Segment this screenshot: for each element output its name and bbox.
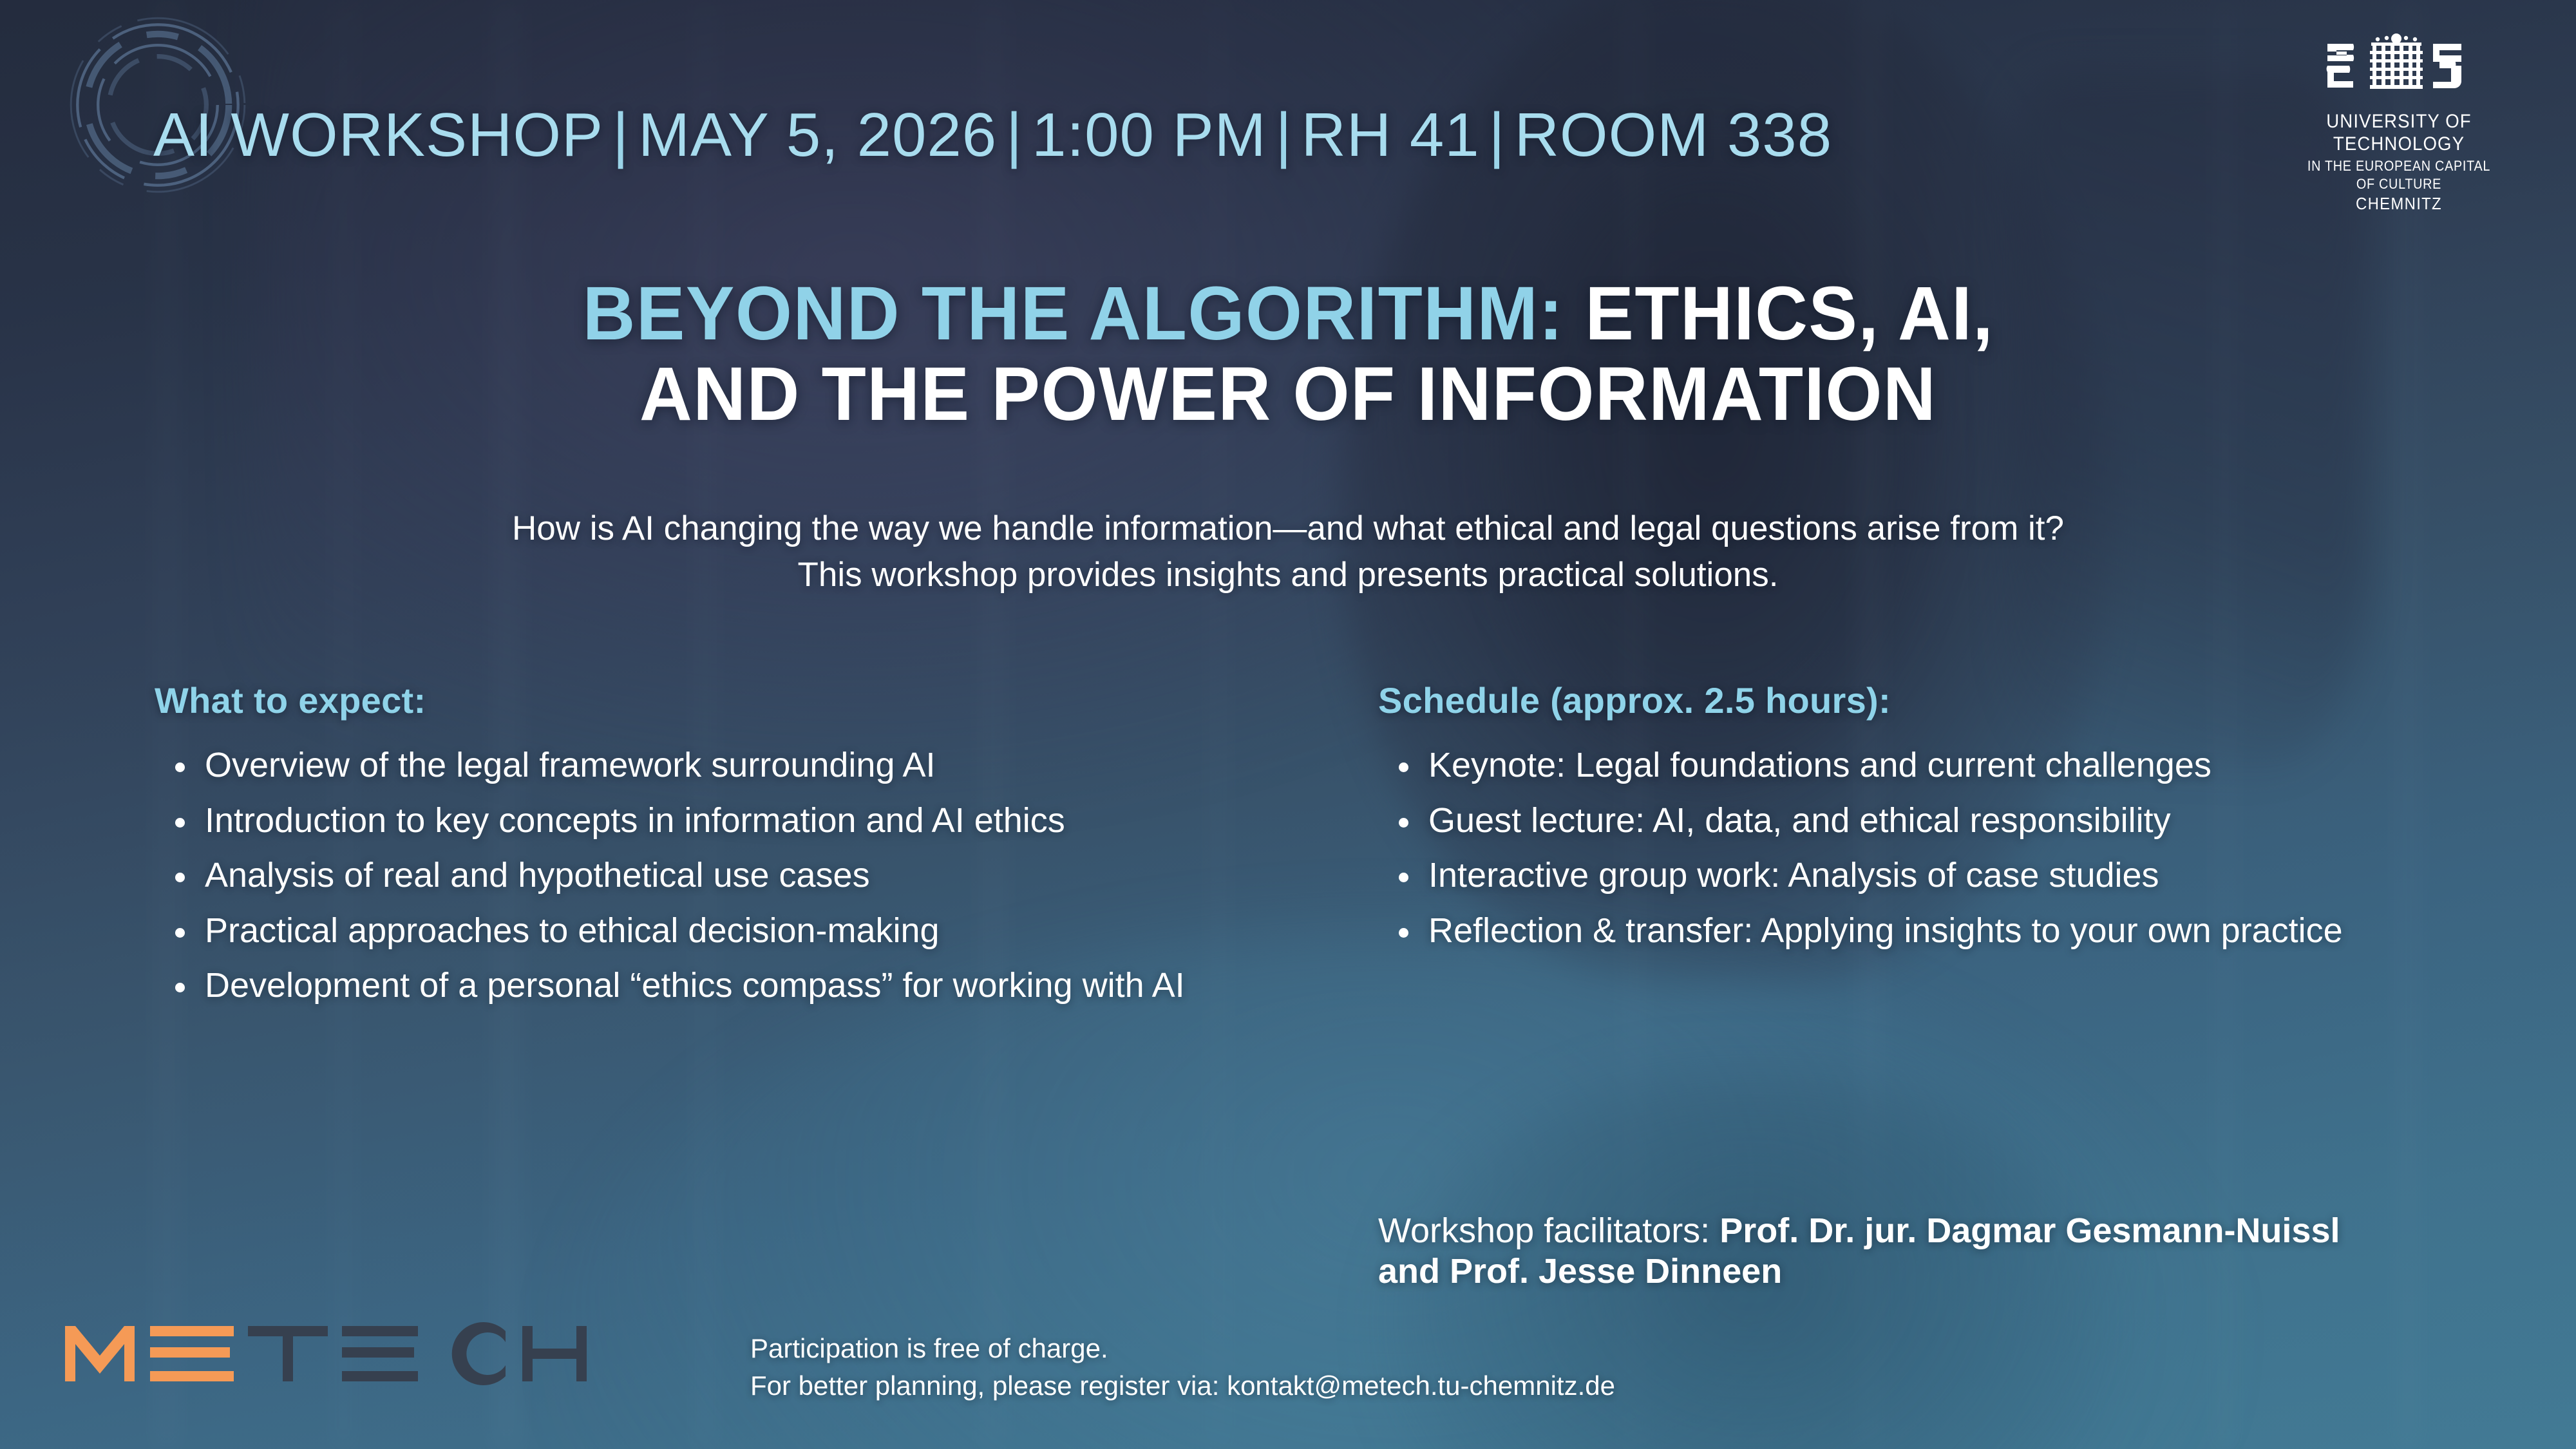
footer-line-free: Participation is free of charge. [750, 1330, 1615, 1367]
university-subtitle-line: IN THE EUROPEAN CAPITAL OF CULTURE [2304, 157, 2495, 193]
subtitle-line-1: How is AI changing the way we handle inf… [0, 506, 2576, 552]
university-city-line: CHEMNITZ [2301, 194, 2497, 214]
page-title: BEYOND THE ALGORITHM: ETHICS, AI, AND TH… [0, 274, 2576, 435]
metech-logo-tech-group [248, 1322, 587, 1385]
list-item: Interactive group work: Analysis of case… [1428, 856, 2537, 896]
facilitators-block: Workshop facilitators: Prof. Dr. jur. Da… [1378, 1211, 2409, 1291]
event-header-line: AI WORKSHOP|MAY 5, 2026|1:00 PM|RH 41|RO… [153, 100, 1832, 171]
list-item: Guest lecture: AI, data, and ethical res… [1428, 801, 2537, 841]
footer-registration-note: Participation is free of charge. For bet… [750, 1330, 1615, 1405]
header-part-date: MAY 5, 2026 [638, 100, 997, 169]
header-part-time: 1:00 PM [1032, 100, 1267, 169]
header-separator-2: | [997, 100, 1032, 169]
list-item: Keynote: Legal foundations and current c… [1428, 746, 2537, 786]
list-item: Practical approaches to ethical decision… [205, 911, 1236, 951]
title-plain-segment: ETHICS, AI, [1564, 271, 1994, 356]
header-separator-1: | [603, 100, 638, 169]
list-item: Development of a personal “ethics compas… [205, 966, 1236, 1006]
title-second-line: AND THE POWER OF INFORMATION [639, 354, 1937, 435]
what-to-expect-heading: What to expect: [155, 679, 1236, 721]
footer-line-register: For better planning, please register via… [750, 1367, 1615, 1405]
header-part-building: RH 41 [1302, 100, 1480, 169]
list-item: Overview of the legal framework surround… [205, 746, 1236, 786]
metech-logo [61, 1317, 602, 1388]
schedule-heading: Schedule (approx. 2.5 hours): [1378, 679, 2537, 721]
metech-logo-me-group [65, 1326, 234, 1381]
subtitle-line-2: This workshop provides insights and pres… [0, 552, 2576, 598]
university-name-line: UNIVERSITY OF TECHNOLOGY [2301, 111, 2497, 155]
tu-chemnitz-2025-mark-icon [2325, 32, 2473, 102]
facilitators-label: Workshop facilitators: [1378, 1211, 1719, 1250]
poster-canvas: AI WORKSHOP|MAY 5, 2026|1:00 PM|RH 41|RO… [0, 0, 2576, 1449]
list-item: Analysis of real and hypothetical use ca… [205, 856, 1236, 896]
what-to-expect-column: What to expect: Overview of the legal fr… [155, 679, 1236, 1021]
list-item: Reflection & transfer: Applying insights… [1428, 911, 2537, 951]
title-accent-segment: BEYOND THE ALGORITHM: [582, 271, 1564, 356]
schedule-list: Keynote: Legal foundations and current c… [1378, 746, 2537, 951]
list-item: Introduction to key concepts in informat… [205, 801, 1236, 841]
what-to-expect-list: Overview of the legal framework surround… [155, 746, 1236, 1006]
schedule-column: Schedule (approx. 2.5 hours): Keynote: L… [1378, 679, 2537, 966]
header-separator-4: | [1480, 100, 1515, 169]
header-part-workshop: AI WORKSHOP [153, 100, 603, 169]
header-separator-3: | [1267, 100, 1302, 169]
header-part-room: ROOM 338 [1515, 100, 1832, 169]
subtitle-description: How is AI changing the way we handle inf… [0, 506, 2576, 598]
university-logo: UNIVERSITY OF TECHNOLOGY IN THE EUROPEAN… [2293, 32, 2505, 214]
